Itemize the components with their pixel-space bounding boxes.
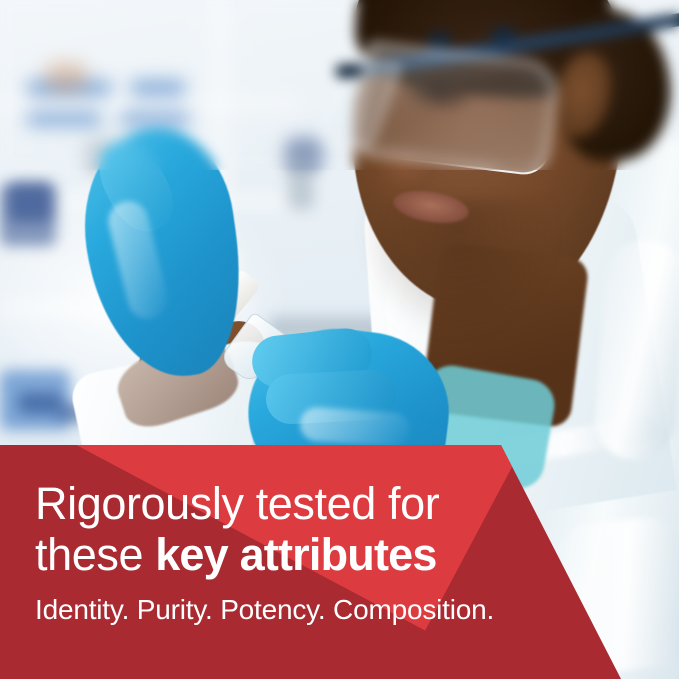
lab-blob-2 xyxy=(130,80,186,96)
lab-blob-9 xyxy=(0,184,56,246)
subline: Identity. Purity. Potency. Composition. xyxy=(35,594,595,626)
lab-blob-8 xyxy=(288,148,314,210)
headline-line-2-normal: these xyxy=(35,529,155,580)
shelf-band-1 xyxy=(0,96,300,110)
headline-line-2-bold: key attributes xyxy=(155,529,436,580)
banner-image: Rigorously tested for these key attribut… xyxy=(0,0,679,679)
headline-line-2: these key attributes xyxy=(35,529,595,580)
lab-blob-3 xyxy=(26,112,102,126)
lab-coat-fold-3 xyxy=(592,237,679,462)
safety-goggles-temple-segment-2 xyxy=(491,25,515,44)
lab-blob-4 xyxy=(120,112,190,126)
banner-text-block: Rigorously tested for these key attribut… xyxy=(35,478,595,626)
lab-blob-11 xyxy=(18,392,62,414)
safety-goggles-hinge xyxy=(336,63,361,79)
headline-line-1: Rigorously tested for xyxy=(35,478,595,529)
lab-blob-12 xyxy=(46,62,86,92)
